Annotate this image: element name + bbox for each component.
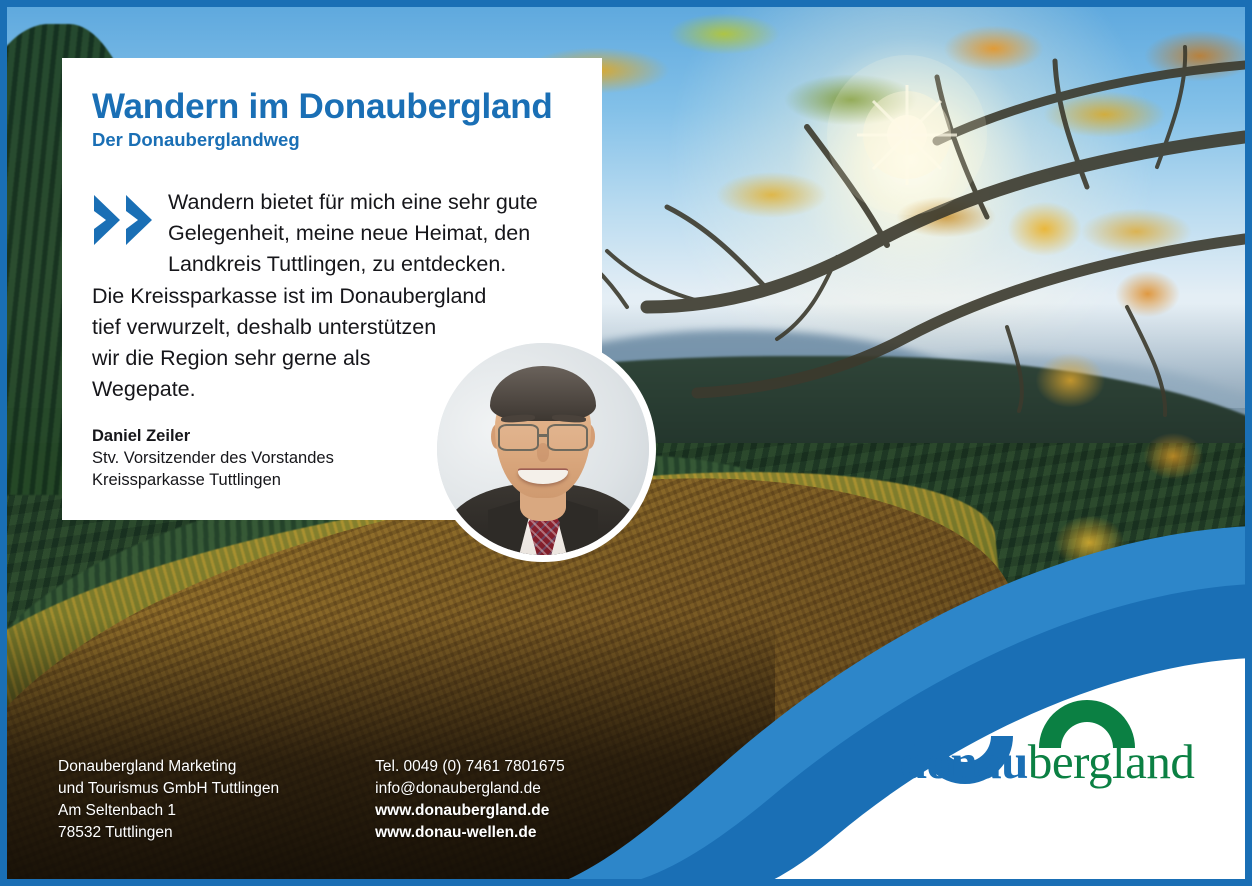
attribution-role-line1: Stv. Vorsitzender des Vorstandes <box>92 448 334 470</box>
address-line: Donaubergland Marketing <box>58 756 279 778</box>
portrait-glasses-bridge <box>539 434 547 436</box>
quote-line: tief verwurzelt, deshalb unterstützen <box>92 312 568 343</box>
email-address[interactable]: info@donaubergland.de <box>375 778 565 800</box>
quote-line: Landkreis Tuttlingen, zu entdecken. <box>92 249 568 280</box>
phone-number: Tel. 0049 (0) 7461 7801675 <box>375 756 565 778</box>
footer-contact: Donaubergland Marketing und Tourismus Gm… <box>58 756 565 844</box>
footer-address: Donaubergland Marketing und Tourismus Gm… <box>58 756 279 844</box>
address-line: und Tourismus GmbH Tuttlingen <box>58 778 279 800</box>
avatar <box>430 336 656 562</box>
logo-word-donau: donau <box>900 734 1028 789</box>
website-link-primary[interactable]: www.donaubergland.de <box>375 800 565 822</box>
address-line: 78532 Tuttlingen <box>58 822 279 844</box>
footer-contact-details: Tel. 0049 (0) 7461 7801675 info@donauber… <box>375 756 565 844</box>
portrait-photo <box>437 343 649 555</box>
page-title: Wandern im Donaubergland <box>92 88 568 125</box>
logo-word-bergland: bergland <box>1028 734 1195 789</box>
donaubergland-logo[interactable]: donaubergland <box>897 658 1197 808</box>
attribution-name: Daniel Zeiler <box>92 426 334 448</box>
portrait-glasses-right <box>547 424 587 452</box>
attribution-role-line2: Kreissparkasse Tuttlingen <box>92 470 334 492</box>
poster: Wandern im Donaubergland Der Donaubergla… <box>0 0 1252 886</box>
quote-line: Die Kreissparkasse ist im Donaubergland <box>92 281 568 312</box>
double-chevron-right-icon <box>92 191 164 249</box>
logo-wordmark: donaubergland <box>897 737 1197 786</box>
address-line: Am Seltenbach 1 <box>58 800 279 822</box>
portrait-nose <box>537 443 550 462</box>
page-subtitle: Der Donauberglandweg <box>92 129 568 151</box>
website-link-secondary[interactable]: www.donau-wellen.de <box>375 822 565 844</box>
portrait-glasses-left <box>498 424 538 452</box>
quote-attribution: Daniel Zeiler Stv. Vorsitzender des Vors… <box>92 426 334 492</box>
